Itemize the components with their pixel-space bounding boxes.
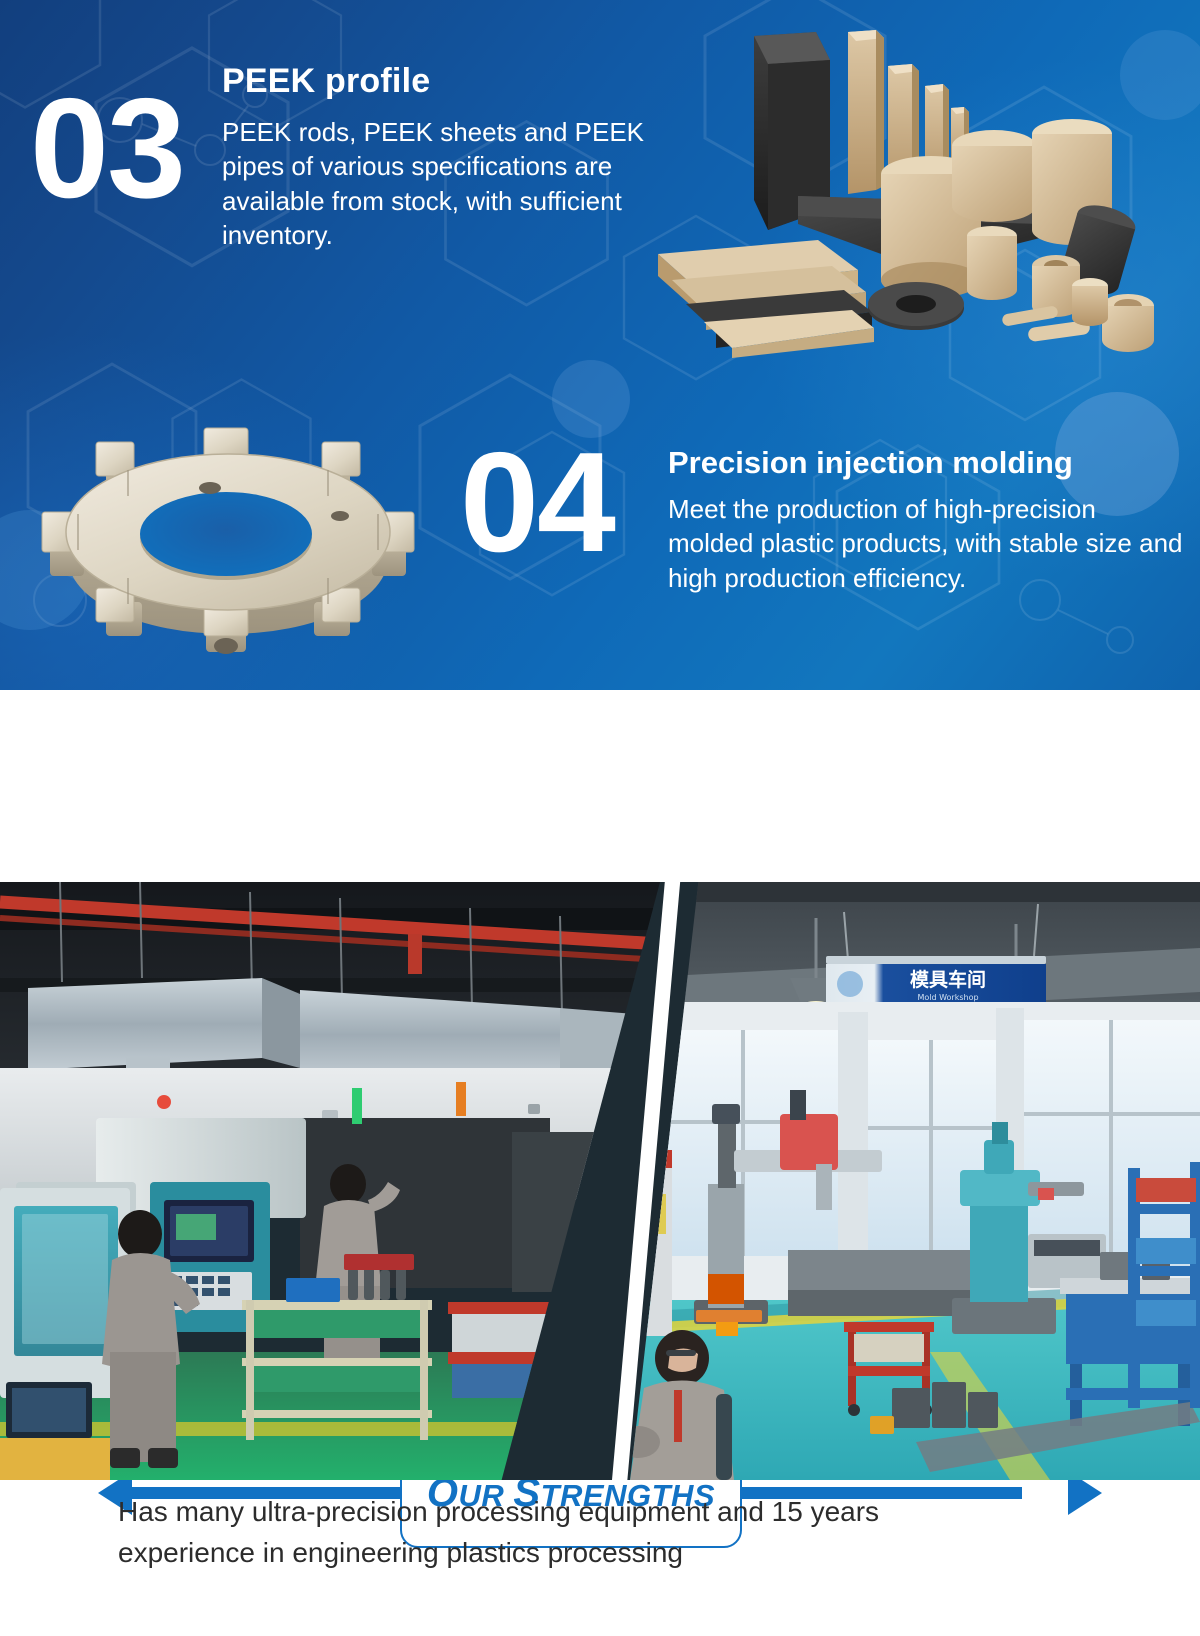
peek-profile-product-image (620, 18, 1190, 358)
strengths-banner: OUR STRENGTHS (0, 690, 1200, 882)
feature-body-03: PEEK rods, PEEK sheets and PEEK pipes of… (222, 115, 662, 252)
feature-title-04: Precision injection molding (668, 446, 1188, 480)
peek-gear-ring-image (28, 392, 428, 674)
caption-line-2: experience in engineering plastics proce… (118, 1533, 1082, 1574)
photo-cnc-workshop (0, 882, 660, 1480)
hero-panel: 03 PEEK profile PEEK rods, PEEK sheets a… (0, 0, 1200, 690)
caption-line-1: Has many ultra-precision processing equi… (118, 1492, 1082, 1533)
svg-text:模具车间: 模具车间 (910, 968, 986, 991)
marketing-page: 03 PEEK profile PEEK rods, PEEK sheets a… (0, 0, 1200, 1636)
factory-photos: 模具车间 Mold Workshop (0, 882, 1200, 1480)
page-caption: Has many ultra-precision processing equi… (0, 1492, 1200, 1573)
feature-body-04: Meet the production of high-precision mo… (668, 492, 1188, 595)
feature-title-03: PEEK profile (222, 62, 662, 101)
photo-mold-workshop: 模具车间 Mold Workshop (630, 882, 1200, 1480)
feature-number-04: 04 (460, 438, 614, 569)
feature-number-03: 03 (30, 84, 184, 215)
feature-block-03: 03 PEEK profile PEEK rods, PEEK sheets a… (0, 62, 660, 352)
feature-block-04: 04 Precision injection molding Meet the … (440, 432, 1200, 662)
svg-text:Mold Workshop: Mold Workshop (917, 993, 978, 1002)
